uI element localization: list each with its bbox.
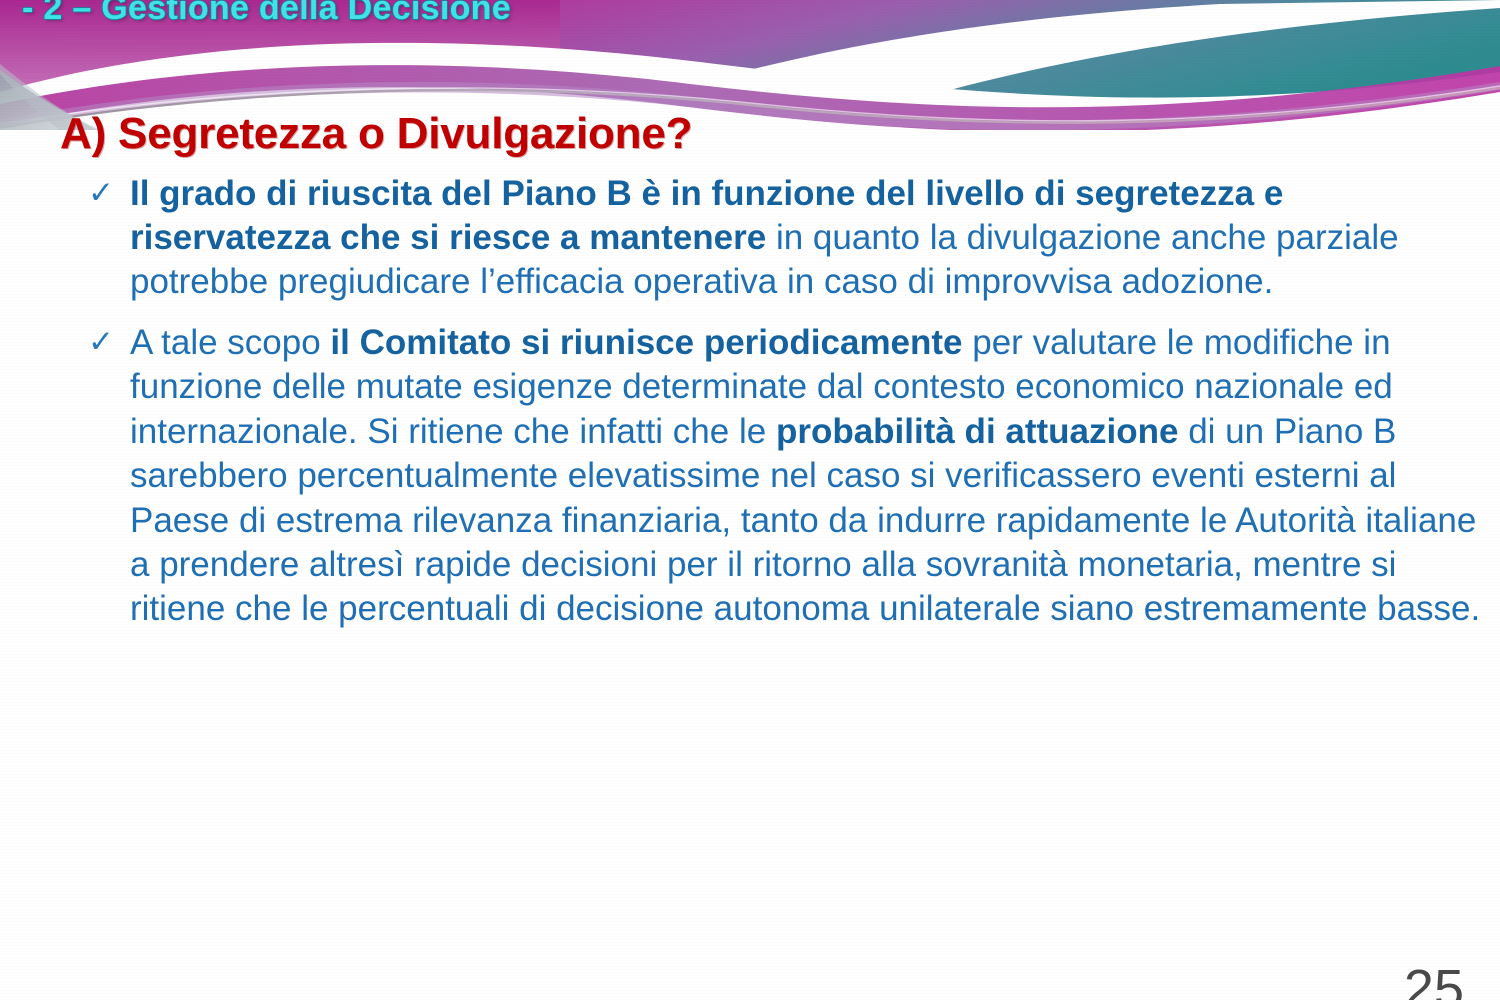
list-item-text: A tale scopo il Comitato si riunisce per…: [130, 321, 1482, 632]
check-mark-icon: ✓: [88, 173, 122, 213]
page-title: A) Segretezza o Divulgazione?: [60, 110, 1500, 158]
check-mark-icon: ✓: [88, 322, 122, 362]
list-item: ✓ Il grado di riuscita del Piano B è in …: [86, 172, 1482, 305]
text-run-regular: A tale scopo: [130, 323, 330, 362]
slide-canvas: - 2 – Gestione della Decisione A) Segret…: [0, 0, 1500, 1000]
page-number: 25: [1404, 962, 1464, 1000]
slide-content: A) Segretezza o Divulgazione? ✓ Il grado…: [0, 110, 1500, 648]
bullet-list: ✓ Il grado di riuscita del Piano B è in …: [0, 172, 1500, 632]
list-item-text: Il grado di riuscita del Piano B è in fu…: [130, 172, 1482, 305]
text-run-bold: probabilità di attuazione: [776, 412, 1179, 451]
list-item: ✓ A tale scopo il Comitato si riunisce p…: [86, 321, 1482, 632]
header-title: - 2 – Gestione della Decisione: [22, 0, 511, 28]
text-run-bold: il Comitato si riunisce periodicamente: [330, 323, 962, 362]
